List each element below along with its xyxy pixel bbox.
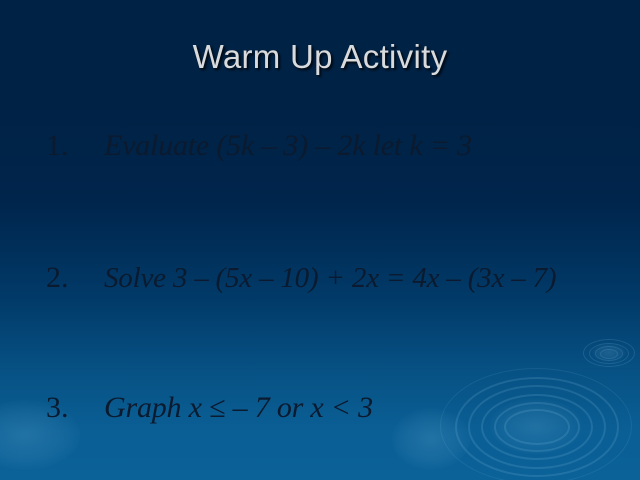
presentation-slide: Warm Up Activity 1. Evaluate (5k – 3) – … bbox=[0, 0, 640, 480]
problem-item-2: 2. Solve 3 – (5x – 10) + 2x = 4x – (3x –… bbox=[46, 262, 634, 294]
problem-item-3: 3. Graph x ≤ – 7 or x < 3 bbox=[46, 392, 634, 424]
problem-item-1: 1. Evaluate (5k – 3) – 2k let k = 3 bbox=[46, 130, 634, 162]
problem-list: 1. Evaluate (5k – 3) – 2k let k = 3 2. S… bbox=[0, 0, 640, 480]
problem-number-3: 3. bbox=[46, 392, 104, 424]
problem-text-3: Graph x ≤ – 7 or x < 3 bbox=[104, 392, 373, 424]
problem-number-1: 1. bbox=[46, 130, 104, 162]
problem-text-2: Solve 3 – (5x – 10) + 2x = 4x – (3x – 7) bbox=[104, 263, 556, 293]
problem-text-1: Evaluate (5k – 3) – 2k let k = 3 bbox=[104, 130, 472, 162]
problem-number-2: 2. bbox=[46, 262, 104, 294]
